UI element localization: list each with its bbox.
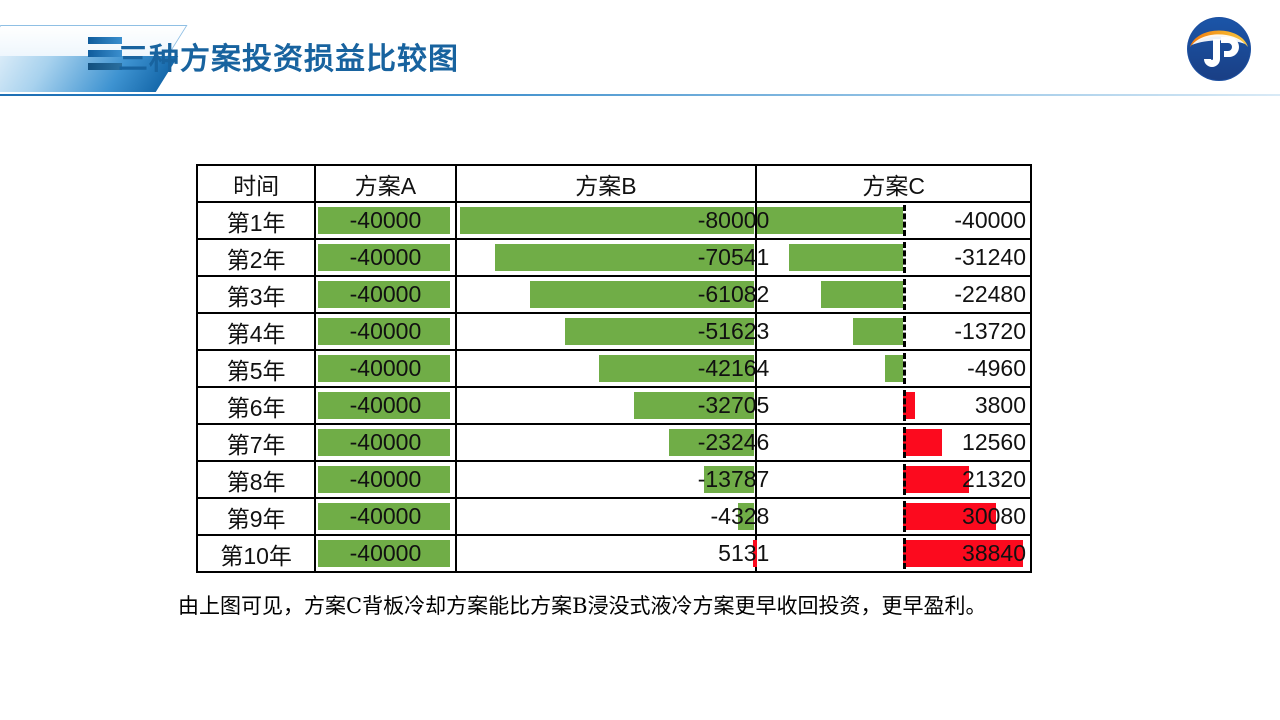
data-bar-plan-c: [903, 429, 942, 456]
cell-plan-c: 21320: [756, 461, 1031, 498]
data-bar-plan-c: [885, 355, 903, 382]
caption-text: 由上图可见，方案C背板冷却方案能比方案B浸没式液冷方案更早收回投资，更早盈利。: [178, 590, 1108, 620]
cell-plan-c: 30080: [756, 498, 1031, 535]
column-header-time: 时间: [197, 165, 315, 202]
value-plan-c: 30080: [962, 501, 1026, 532]
cell-plan-b: -23246: [456, 424, 757, 461]
cell-plan-a: -40000: [315, 424, 455, 461]
cell-plan-a: -40000: [315, 387, 455, 424]
value-plan-a: -40000: [316, 205, 454, 236]
table-row: 第4年-40000-51623-13720: [197, 313, 1031, 350]
header-accent-bar-2: [88, 50, 122, 57]
cell-plan-c: 38840: [756, 535, 1031, 572]
value-plan-c: 12560: [962, 427, 1026, 458]
header-accent-bar-3: [88, 63, 122, 70]
value-plan-a: -40000: [316, 538, 454, 569]
page-header: 三种方案投资损益比较图: [0, 0, 1280, 97]
cell-plan-b: 5131: [456, 535, 757, 572]
cell-plan-c: 12560: [756, 424, 1031, 461]
table-row: 第6年-40000-327053800: [197, 387, 1031, 424]
cell-plan-c: -31240: [756, 239, 1031, 276]
cell-plan-c: -22480: [756, 276, 1031, 313]
value-plan-b: -42164: [698, 353, 770, 384]
investment-comparison-table: 时间 方案A 方案B 方案C 第1年-40000-80000-40000第2年-…: [196, 164, 1032, 573]
row-label-year: 第6年: [197, 387, 315, 424]
cell-plan-a: -40000: [315, 313, 455, 350]
cell-plan-b: -13787: [456, 461, 757, 498]
table-row: 第3年-40000-61082-22480: [197, 276, 1031, 313]
cell-plan-a: -40000: [315, 239, 455, 276]
value-plan-b: -70541: [698, 242, 770, 273]
cell-plan-b: -61082: [456, 276, 757, 313]
data-bar-plan-c: [853, 318, 903, 345]
value-plan-b: -80000: [698, 205, 770, 236]
cell-plan-c: -4960: [756, 350, 1031, 387]
zero-axis-line: [903, 427, 906, 458]
value-plan-c: 38840: [962, 538, 1026, 569]
row-label-year: 第5年: [197, 350, 315, 387]
zero-axis-line: [903, 353, 906, 384]
table-header-row: 时间 方案A 方案B 方案C: [197, 165, 1031, 202]
zero-axis-line: [903, 538, 906, 569]
zero-axis-line: [903, 390, 906, 421]
data-bar-plan-c: [821, 281, 903, 308]
value-plan-c: -22480: [954, 279, 1026, 310]
data-bar-plan-c: [757, 207, 903, 234]
value-plan-b: -32705: [698, 390, 770, 421]
value-plan-a: -40000: [316, 427, 454, 458]
table-row: 第5年-40000-42164-4960: [197, 350, 1031, 387]
value-plan-a: -40000: [316, 242, 454, 273]
zero-axis-line: [903, 464, 906, 495]
cell-plan-a: -40000: [315, 535, 455, 572]
table-row: 第1年-40000-80000-40000: [197, 202, 1031, 239]
cell-plan-b: -32705: [456, 387, 757, 424]
row-label-year: 第9年: [197, 498, 315, 535]
page-title: 三种方案投资损益比较图: [118, 34, 459, 78]
value-plan-a: -40000: [316, 316, 454, 347]
company-logo-icon: [1187, 17, 1251, 81]
value-plan-a: -40000: [316, 279, 454, 310]
value-plan-a: -40000: [316, 390, 454, 421]
table-row: 第10年-40000513138840: [197, 535, 1031, 572]
header-accent-bar-1: [88, 37, 122, 44]
cell-plan-a: -40000: [315, 350, 455, 387]
value-plan-b: -23246: [698, 427, 770, 458]
value-plan-b: -13787: [698, 464, 770, 495]
value-plan-b: -4328: [711, 501, 770, 532]
row-label-year: 第3年: [197, 276, 315, 313]
row-label-year: 第4年: [197, 313, 315, 350]
value-plan-a: -40000: [316, 501, 454, 532]
cell-plan-a: -40000: [315, 202, 455, 239]
row-label-year: 第1年: [197, 202, 315, 239]
cell-plan-a: -40000: [315, 498, 455, 535]
zero-axis-line: [903, 242, 906, 273]
cell-plan-a: -40000: [315, 461, 455, 498]
table-body: 第1年-40000-80000-40000第2年-40000-70541-312…: [197, 202, 1031, 572]
cell-plan-a: -40000: [315, 276, 455, 313]
cell-plan-b: -4328: [456, 498, 757, 535]
column-header-plan-c: 方案C: [756, 165, 1031, 202]
table-row: 第9年-40000-432830080: [197, 498, 1031, 535]
cell-plan-b: -70541: [456, 239, 757, 276]
value-plan-c: -31240: [954, 242, 1026, 273]
row-label-year: 第10年: [197, 535, 315, 572]
value-plan-a: -40000: [316, 353, 454, 384]
zero-axis-line: [903, 279, 906, 310]
data-bar-plan-c: [903, 466, 969, 493]
table-row: 第7年-40000-2324612560: [197, 424, 1031, 461]
cell-plan-b: -80000: [456, 202, 757, 239]
row-label-year: 第2年: [197, 239, 315, 276]
table-row: 第8年-40000-1378721320: [197, 461, 1031, 498]
row-label-year: 第8年: [197, 461, 315, 498]
zero-axis-line: [903, 501, 906, 532]
zero-axis-line: [903, 316, 906, 347]
value-plan-c: -40000: [954, 205, 1026, 236]
cell-plan-c: -13720: [756, 313, 1031, 350]
table-header-row-group: 时间 方案A 方案B 方案C: [197, 165, 1031, 202]
value-plan-b: -51623: [698, 316, 770, 347]
investment-comparison-table-wrapper: 时间 方案A 方案B 方案C 第1年-40000-80000-40000第2年-…: [196, 164, 1032, 573]
data-bar-plan-c: [789, 244, 903, 271]
cell-plan-b: -42164: [456, 350, 757, 387]
cell-plan-c: 3800: [756, 387, 1031, 424]
column-header-plan-b: 方案B: [456, 165, 757, 202]
value-plan-c: -4960: [967, 353, 1026, 384]
value-plan-c: -13720: [954, 316, 1026, 347]
table-row: 第2年-40000-70541-31240: [197, 239, 1031, 276]
cell-plan-c: -40000: [756, 202, 1031, 239]
header-divider: [0, 94, 1280, 96]
value-plan-b: 5131: [718, 538, 769, 569]
value-plan-b: -61082: [698, 279, 770, 310]
value-plan-c: 21320: [962, 464, 1026, 495]
value-plan-a: -40000: [316, 464, 454, 495]
row-label-year: 第7年: [197, 424, 315, 461]
value-plan-c: 3800: [975, 390, 1026, 421]
column-header-plan-a: 方案A: [315, 165, 455, 202]
cell-plan-b: -51623: [456, 313, 757, 350]
zero-axis-line: [903, 205, 906, 236]
